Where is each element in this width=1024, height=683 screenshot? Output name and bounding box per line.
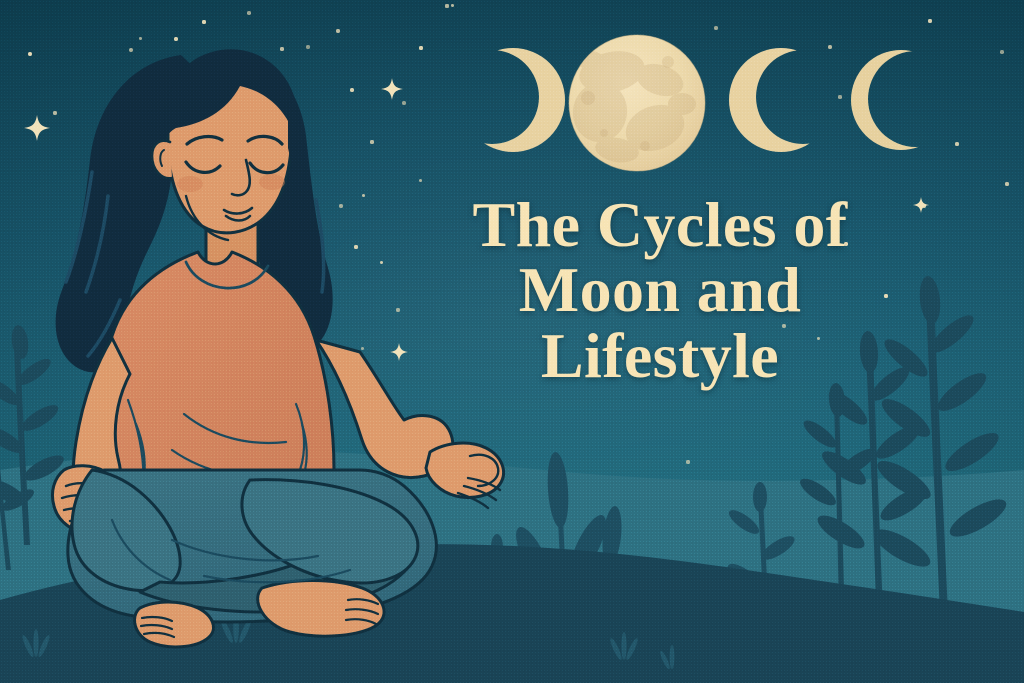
poster-title: The Cycles of Moon and Lifestyle — [400, 192, 920, 388]
poster-canvas: The Cycles of Moon and Lifestyle — [0, 0, 1024, 683]
title-line-1: The Cycles of — [400, 192, 920, 257]
right-foot — [258, 581, 384, 637]
title-line-3: Lifestyle — [400, 323, 920, 388]
title-line-2: Moon and — [400, 257, 920, 322]
